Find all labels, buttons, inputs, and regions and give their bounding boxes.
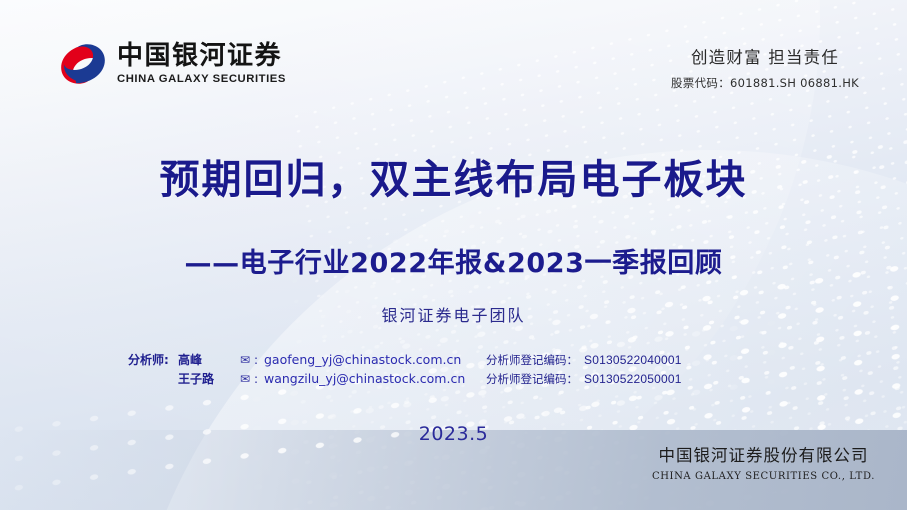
- slide-body: 预期回归，双主线布局电子板块 ——电子行业2022年报&2023一季报回顾 银河…: [0, 118, 907, 326]
- company-slogan: 创造财富 担当责任: [671, 44, 859, 68]
- team-name: 银河证券电子团队: [0, 302, 907, 326]
- analyst-name: 高峰: [178, 351, 240, 368]
- analyst-label: 分析师:: [128, 351, 178, 368]
- analyst-colon: :: [254, 353, 264, 367]
- analyst-reg-label: 分析师登记编码：: [486, 352, 578, 368]
- analyst-reg-code: S0130522050001: [584, 372, 682, 386]
- analyst-name: 王子路: [178, 370, 240, 387]
- page-title: 预期回归，双主线布局电子板块: [0, 147, 907, 205]
- stock-code: 股票代码：601881.SH 06881.HK: [671, 75, 859, 91]
- brand-name-cn: 中国银河证券: [117, 43, 286, 70]
- presentation-cover-slide: 中国银河证券 CHINA GALAXY SECURITIES 创造财富 担当责任…: [0, 0, 907, 510]
- analyst-email[interactable]: gaofeng_yj@chinastock.com.cn: [264, 352, 486, 367]
- brand-text: 中国银河证券 CHINA GALAXY SECURITIES: [117, 43, 286, 85]
- footer-company-block: 中国银河证券股份有限公司 CHINA GALAXY SECURITIES CO.…: [652, 442, 875, 482]
- analyst-block: 分析师: 高峰 ✉ : gaofeng_yj@chinastock.com.cn…: [128, 351, 682, 389]
- analyst-row: 王子路 ✉ : wangzilu_yj@chinastock.com.cn 分析…: [128, 370, 682, 389]
- slide-header: 中国银河证券 CHINA GALAXY SECURITIES 创造财富 担当责任…: [0, 0, 907, 118]
- envelope-icon: ✉: [240, 372, 254, 386]
- analyst-reg-label: 分析师登记编码：: [486, 371, 578, 387]
- analyst-reg-code: S0130522040001: [584, 353, 682, 367]
- envelope-icon: ✉: [240, 353, 254, 367]
- page-subtitle: ——电子行业2022年报&2023一季报回顾: [0, 241, 907, 280]
- company-name-en: CHINA GALAXY SECURITIES CO., LTD.: [652, 471, 875, 482]
- company-name-cn: 中国银河证券股份有限公司: [652, 442, 875, 466]
- slogan-block: 创造财富 担当责任 股票代码：601881.SH 06881.HK: [671, 44, 859, 91]
- brand-name-en: CHINA GALAXY SECURITIES: [117, 73, 286, 85]
- brand-lockup: 中国银河证券 CHINA GALAXY SECURITIES: [57, 38, 286, 90]
- analyst-email[interactable]: wangzilu_yj@chinastock.com.cn: [264, 371, 486, 386]
- analyst-row: 分析师: 高峰 ✉ : gaofeng_yj@chinastock.com.cn…: [128, 351, 682, 370]
- analyst-colon: :: [254, 372, 264, 386]
- galaxy-swirl-logo-icon: [57, 38, 109, 90]
